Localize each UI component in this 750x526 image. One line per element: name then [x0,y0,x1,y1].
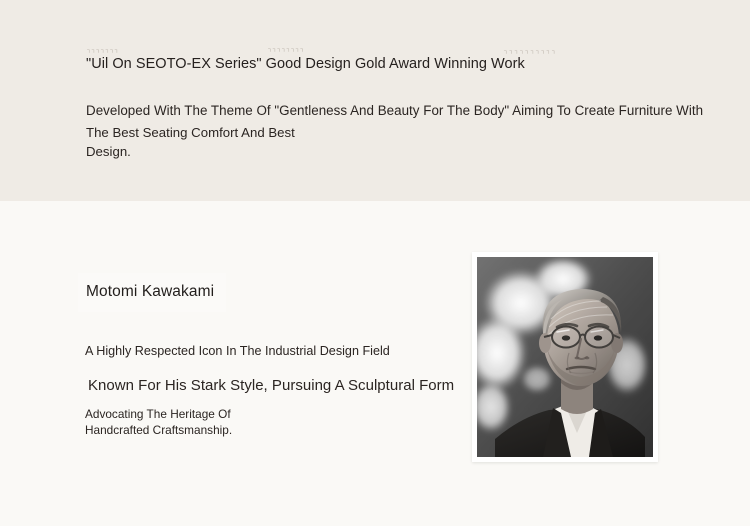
award-description-line-2: The Best Seating Comfort And Best [86,124,736,142]
portrait-illustration [477,257,653,457]
award-description: Developed With The Theme Of "Gentleness … [86,97,736,161]
designer-portrait-photo [477,257,653,457]
designer-bio-line-3b: Handcrafted Craftsmanship. [85,423,505,439]
designer-bio-line-2: Known For His Stark Style, Pursuing A Sc… [88,375,505,397]
designer-name-block: Motomi Kawakami [78,273,226,312]
designer-portrait-frame [472,252,658,462]
headline-row: ┐┐┐┐┐┐┐ ┐┐┐┐┐┐┐┐ ┐┐┐┐┐┐┐┐┐┐ "Uil On SEOT… [86,55,706,77]
product-designer-info-page: ┐┐┐┐┐┐┐ ┐┐┐┐┐┐┐┐ ┐┐┐┐┐┐┐┐┐┐ "Uil On SEOT… [0,0,750,526]
designer-bio-line-1: A Highly Respected Icon In The Industria… [85,343,505,360]
ghost-text-artifact-left: ┐┐┐┐┐┐┐ [87,47,119,53]
ghost-text-artifact-right: ┐┐┐┐┐┐┐┐┐┐ [504,48,557,54]
award-headline: "Uil On SEOTO-EX Series" Good Design Gol… [86,55,525,73]
designer-name: Motomi Kawakami [86,282,214,301]
award-description-line-3: Design. [86,142,736,161]
ghost-text-artifact-middle: ┐┐┐┐┐┐┐┐ [268,46,305,52]
designer-bio: A Highly Respected Icon In The Industria… [85,343,505,438]
award-description-line-1: Developed With The Theme Of "Gentleness … [86,97,736,124]
award-section: ┐┐┐┐┐┐┐ ┐┐┐┐┐┐┐┐ ┐┐┐┐┐┐┐┐┐┐ "Uil On SEOT… [0,0,750,201]
designer-bio-line-3a: Advocating The Heritage Of [85,407,505,423]
